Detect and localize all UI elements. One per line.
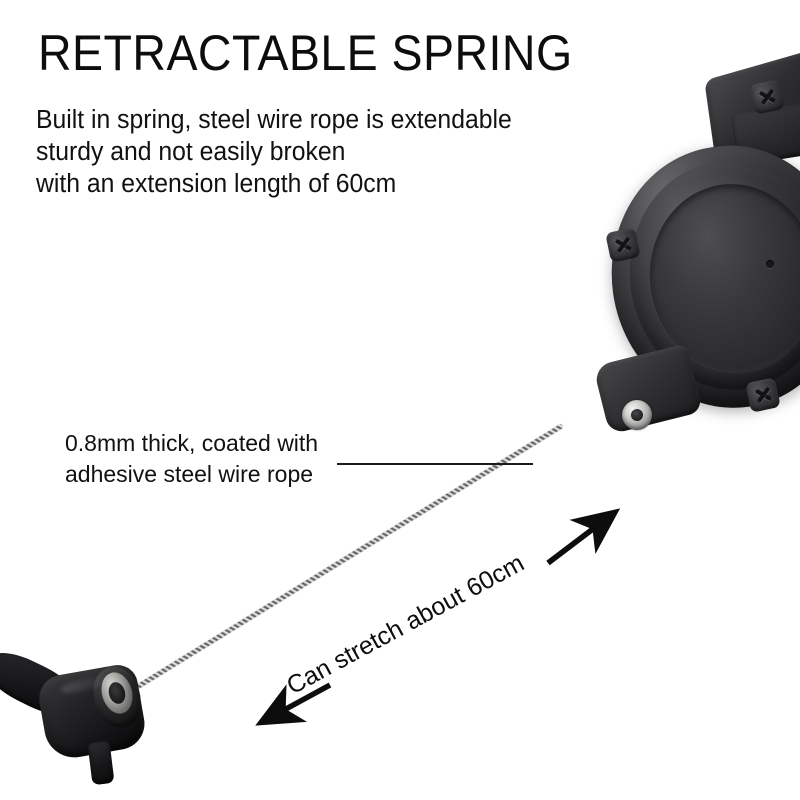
cable-exit-eyelet <box>622 400 652 430</box>
phillips-screw-icon <box>605 227 641 263</box>
arrowhead-right <box>548 513 614 563</box>
description-line-1: Built in spring, steel wire rope is exte… <box>36 104 512 136</box>
description-line-2: sturdy and not easily broken <box>36 136 512 168</box>
wire-rope-callout-line-1: 0.8mm thick, coated with <box>65 428 318 459</box>
page-title: RETRACTABLE SPRING <box>38 26 573 80</box>
phillips-screw-icon <box>745 377 781 413</box>
reel-center-pin <box>766 260 774 268</box>
leader-line <box>337 463 533 465</box>
retractable-spring-reel-housing <box>584 62 800 462</box>
wire-rope-callout: 0.8mm thick, coated with adhesive steel … <box>65 428 318 490</box>
product-description: Built in spring, steel wire rope is exte… <box>36 104 512 200</box>
wire-rope-callout-line-2: adhesive steel wire rope <box>65 459 318 490</box>
cable-end-clip <box>0 648 180 800</box>
phillips-screw-icon <box>749 79 785 115</box>
description-line-3: with an extension length of 60cm <box>36 168 512 200</box>
product-infographic: RETRACTABLE SPRING Built in spring, stee… <box>0 0 800 800</box>
